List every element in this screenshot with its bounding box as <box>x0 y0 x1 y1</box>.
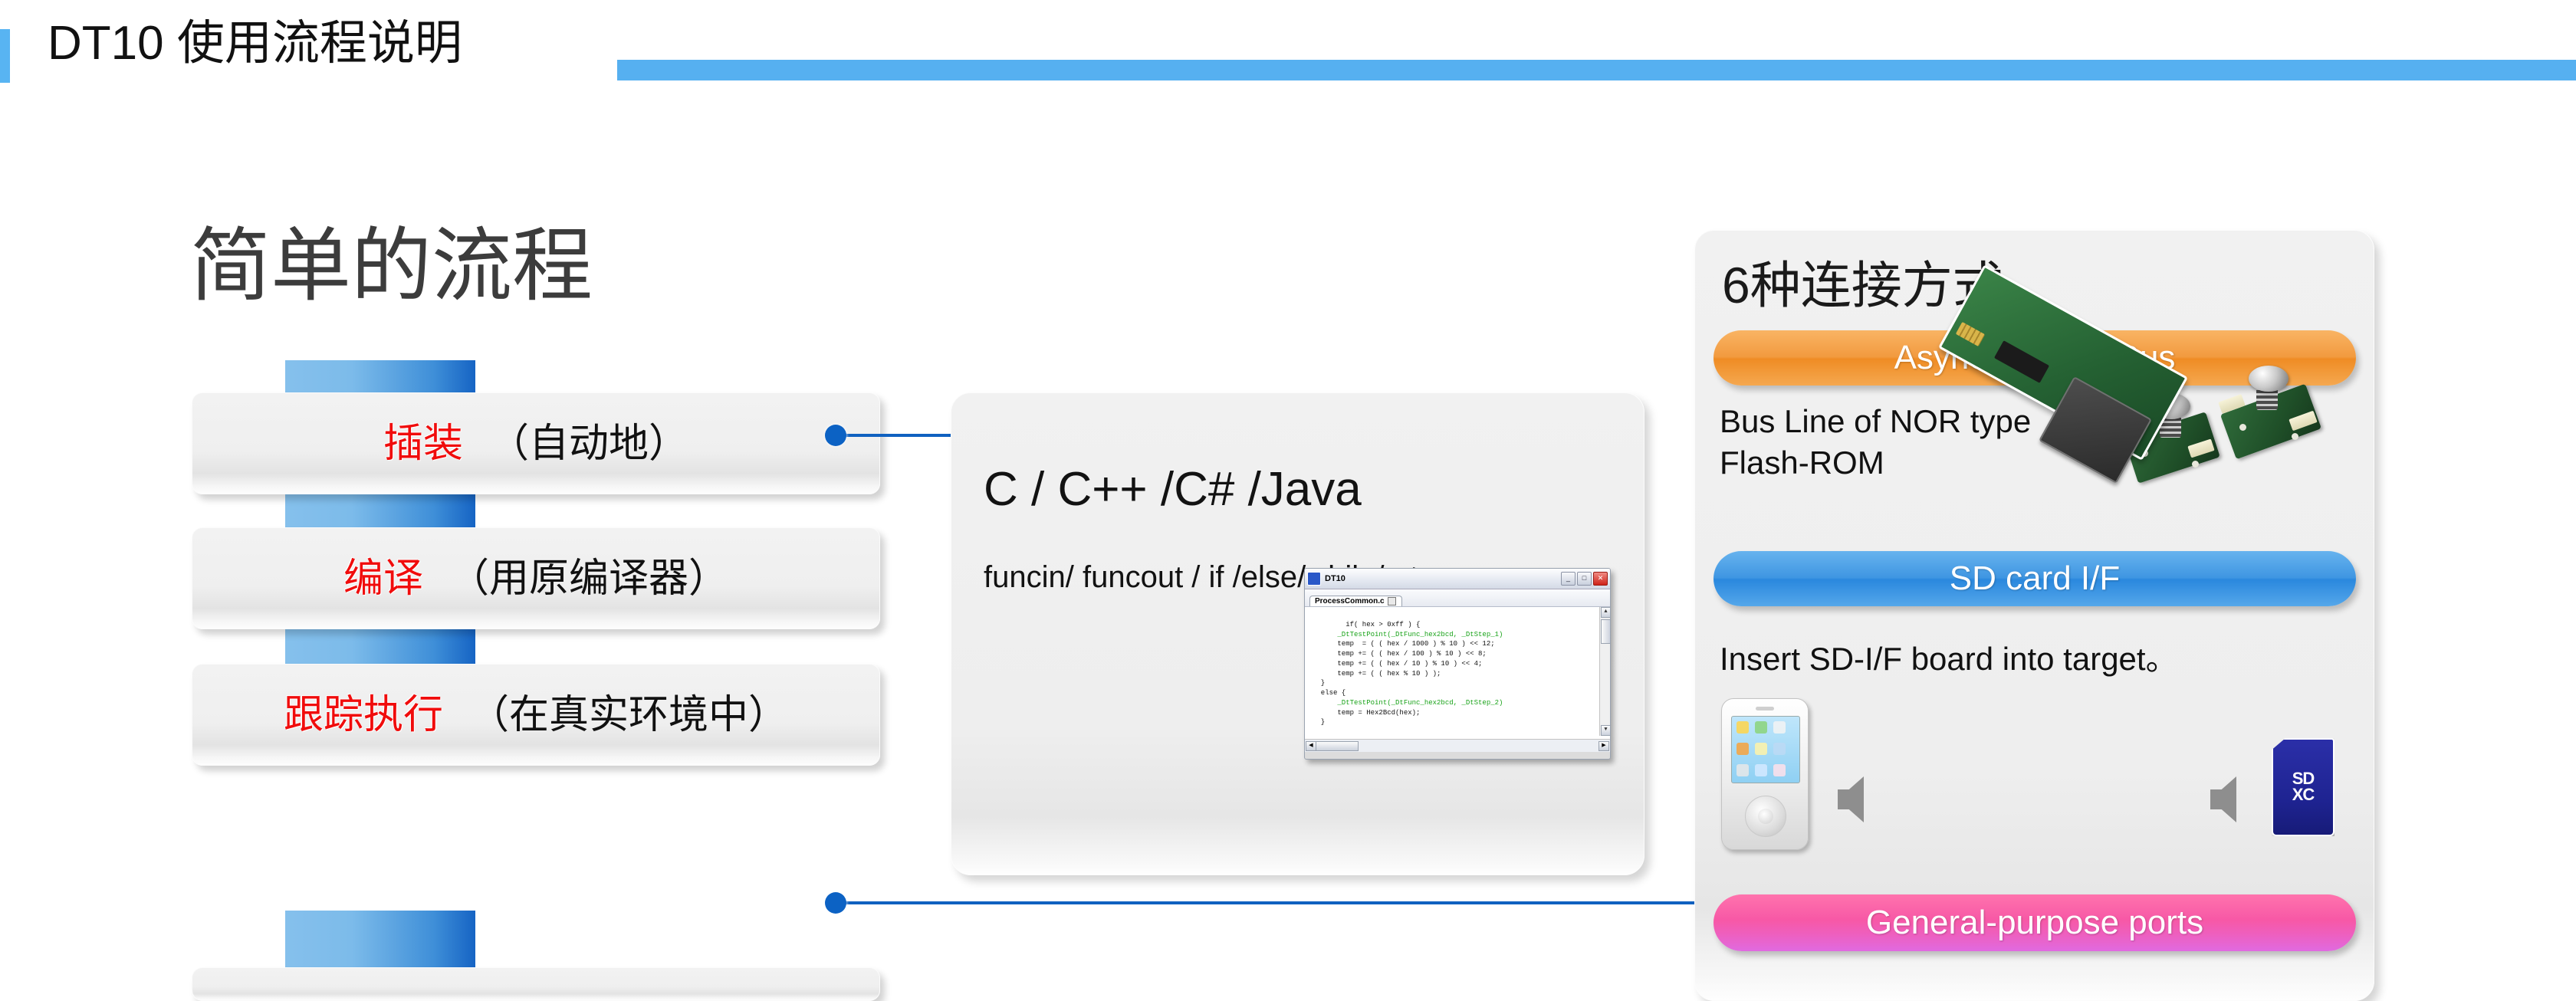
header-accent-bar <box>0 29 10 83</box>
target-device-icon <box>1721 698 1809 850</box>
maximize-icon[interactable]: □ <box>1577 572 1592 586</box>
flow-step-2-note: （用原编译器） <box>449 556 728 601</box>
tab-label: ProcessCommon.c <box>1315 597 1385 606</box>
code-window-tabbar: ProcessCommon.c <box>1305 589 1610 607</box>
pill-general-purpose-ports-label: General-purpose ports <box>1866 906 2203 940</box>
page-title: DT10 使用流程说明 <box>48 20 462 67</box>
phone-screen-icon <box>1731 716 1800 783</box>
flow-step-2-keyword: 编译 <box>343 556 423 601</box>
tab-close-icon[interactable] <box>1388 597 1396 606</box>
vertical-scrollbar[interactable]: ▲ ▼ <box>1599 607 1610 736</box>
horizontal-scroll-thumb[interactable] <box>1316 741 1359 751</box>
code-window-titlebar: DT10 _ □ ✕ <box>1305 569 1610 589</box>
sdxc-bottom-label: XC <box>2292 787 2315 803</box>
flow-step-3-text: 跟踪执行（在真实环境中） <box>192 695 879 735</box>
phone-speaker-icon <box>1756 707 1774 711</box>
dt10-app-icon <box>1307 572 1321 586</box>
flow-step-2[interactable]: 编译（用原编译器） <box>192 527 880 629</box>
code-window-title: DT10 <box>1325 574 1561 583</box>
languages-title: C / C++ /C# /Java <box>984 466 1362 514</box>
sd-interface-board-icon <box>1939 304 2192 496</box>
flow-step-2-text: 编译（用原编译器） <box>192 559 879 599</box>
flow-step-3[interactable]: 跟踪执行（在真实环境中） <box>192 664 880 766</box>
scroll-right-icon[interactable]: ▶ <box>1598 741 1609 751</box>
arrow-left-icon-1 <box>1838 776 1864 822</box>
flow-step-1[interactable]: 插装（自动地） <box>192 392 880 494</box>
scroll-left-icon[interactable]: ◀ <box>1306 741 1316 751</box>
pill-sd-card-if[interactable]: SD card I/F <box>1714 551 2356 606</box>
connection-methods-panel: 6种连接方式 Asynchronous Bus Bus Line of NOR … <box>1694 230 2374 1001</box>
arrow-left-icon-2 <box>2210 776 2236 822</box>
nor-adapter-board-2-icon <box>2219 367 2327 459</box>
sdxc-card-icon: SD XC <box>2272 738 2334 836</box>
caption-insert-sd-board: Insert SD-I/F board into target。 <box>1720 638 2356 680</box>
minimize-icon[interactable]: _ <box>1561 572 1575 586</box>
code-editor-area[interactable]: if( hex > 0xff ) { _DtTestPoint(_DtFunc_… <box>1305 607 1610 739</box>
code-window-buttons: _ □ ✕ <box>1561 572 1608 586</box>
connector-dot-step1 <box>825 425 846 446</box>
connection-methods-title: 6种连接方式 <box>1722 260 2003 310</box>
code-text: if( hex > 0xff ) { _DtTestPoint(_DtFunc_… <box>1313 621 1503 727</box>
flow-step-3-note: （在真实环境中） <box>469 693 788 737</box>
flow-step-4-partial[interactable] <box>192 967 880 1001</box>
vertical-scroll-thumb[interactable] <box>1601 619 1610 644</box>
flow-heading: 简单的流程 <box>190 226 593 307</box>
pill-general-purpose-ports[interactable]: General-purpose ports <box>1714 894 2356 951</box>
dt10-code-window[interactable]: DT10 _ □ ✕ ProcessCommon.c if( hex > 0xf… <box>1304 568 1611 760</box>
flow-step-3-keyword: 跟踪执行 <box>284 693 443 737</box>
flow-step-1-keyword: 插装 <box>383 422 463 466</box>
connector-dot-step3 <box>825 892 846 914</box>
languages-panel: C / C++ /C# /Java funcin/ funcout / if /… <box>951 392 1644 875</box>
horizontal-scrollbar[interactable]: ◀ ▶ <box>1305 739 1610 752</box>
phone-dpad-icon <box>1745 796 1786 837</box>
flow-step-1-text: 插装（自动地） <box>192 424 879 464</box>
close-icon[interactable]: ✕ <box>1593 572 1608 586</box>
connector-line-step3-to-right <box>836 901 1711 904</box>
flow-step-1-note: （自动地） <box>489 422 688 466</box>
header-rule-bar <box>617 60 2576 80</box>
scroll-down-icon[interactable]: ▼ <box>1601 725 1610 736</box>
tab-processcommon-c[interactable]: ProcessCommon.c <box>1309 596 1402 606</box>
scroll-up-icon[interactable]: ▲ <box>1601 607 1610 618</box>
pill-sd-card-if-label: SD card I/F <box>1950 562 2121 596</box>
